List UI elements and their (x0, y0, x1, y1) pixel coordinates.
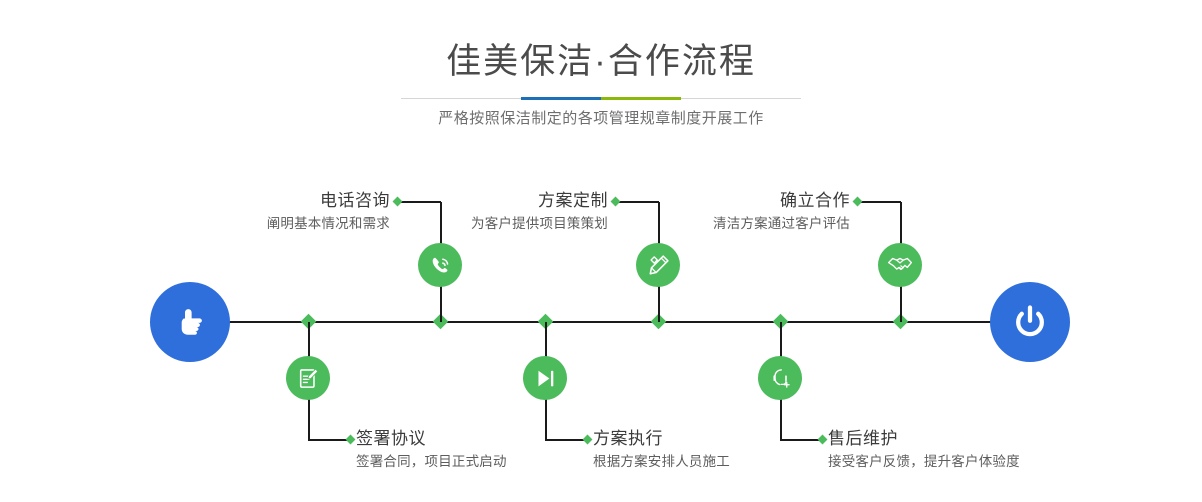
step-icon-6 (758, 356, 802, 400)
document-sign-icon (296, 366, 321, 391)
step-title-5: 确立合作 (596, 189, 850, 213)
step-desc-1: 阐明基本情况和需求 (138, 213, 390, 234)
pencil-design-icon (646, 253, 671, 278)
page-title: 佳美保洁·合作流程 (0, 40, 1202, 84)
handshake-icon (887, 252, 913, 278)
process-flow-infographic: 佳美保洁·合作流程 严格按照保洁制定的各项管理规章制度开展工作 (0, 0, 1202, 502)
step-label-6: 售后维护 接受客户反馈，提升客户体验度 (828, 427, 1128, 472)
label-bullet-step-5 (853, 197, 863, 207)
label-bullet-step-2 (346, 435, 356, 445)
phone-call-icon (428, 253, 453, 278)
connector-leader-step-6 (780, 439, 822, 441)
flow-end-marker (990, 282, 1070, 362)
flow-start-marker (150, 282, 230, 362)
title-divider (401, 97, 801, 100)
connector-leader-step-4 (545, 439, 587, 441)
step-icon-4 (523, 356, 567, 400)
page-subtitle: 严格按照保洁制定的各项管理规章制度开展工作 (0, 108, 1202, 130)
step-title-3: 方案定制 (356, 189, 608, 213)
connector-leader-step-5 (858, 201, 901, 203)
connector-leader-step-2 (308, 439, 350, 441)
step-title-6: 售后维护 (828, 427, 1128, 451)
play-execute-icon (533, 366, 558, 391)
step-label-3: 方案定制 为客户提供项目策策划 (356, 189, 608, 234)
divider-segment-green (601, 97, 681, 100)
step-icon-2 (286, 356, 330, 400)
step-icon-1 (418, 243, 462, 287)
step-desc-6: 接受客户反馈，提升客户体验度 (828, 451, 1128, 472)
step-title-1: 电话咨询 (138, 189, 390, 213)
pointing-hand-icon (170, 302, 210, 342)
step-icon-5 (878, 243, 922, 287)
step-desc-5: 清洁方案通过客户评估 (596, 213, 850, 234)
power-icon (1009, 301, 1051, 343)
step-label-5: 确立合作 清洁方案通过客户评估 (596, 189, 850, 234)
step-icon-3 (636, 243, 680, 287)
step-label-1: 电话咨询 阐明基本情况和需求 (138, 189, 390, 234)
step-desc-3: 为客户提供项目策策划 (356, 213, 608, 234)
divider-segment-blue (521, 97, 601, 100)
timeline-axis (229, 321, 991, 323)
customer-support-icon (768, 366, 793, 391)
